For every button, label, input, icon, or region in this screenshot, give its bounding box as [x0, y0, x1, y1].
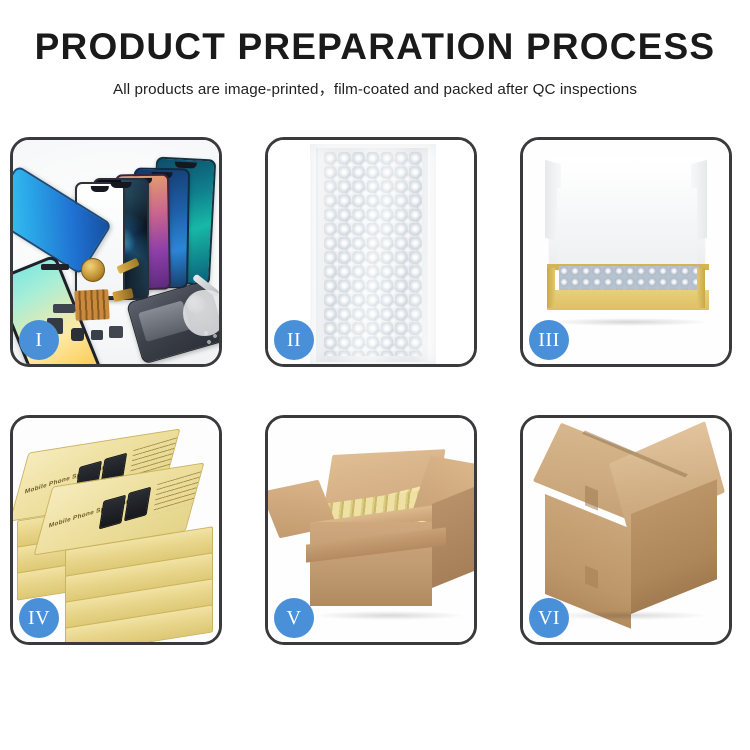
- step-badge-4: IV: [19, 598, 59, 638]
- page-subtitle: All products are image-printed，film-coat…: [0, 77, 750, 99]
- step-badge-1: I: [19, 320, 59, 360]
- part-speaker: [109, 326, 123, 338]
- step-panel-6: VI: [520, 415, 732, 645]
- inner-box-corner-left: [547, 268, 555, 308]
- bubble-wrap-shadow: [310, 144, 436, 364]
- box-spec-lines: [153, 471, 203, 515]
- step-panel-3: III: [520, 137, 732, 367]
- carton-shadow: [314, 611, 464, 620]
- page-title: PRODUCT PREPARATION PROCESS: [0, 28, 750, 67]
- phone-notch: [91, 186, 109, 192]
- step-badge-6: VI: [529, 598, 569, 638]
- inner-box-interior: [557, 188, 697, 268]
- step-badge-3: III: [529, 320, 569, 360]
- technician-hand: [183, 290, 219, 336]
- product-preparation-process-page: PRODUCT PREPARATION PROCESS All products…: [0, 0, 750, 750]
- process-steps-grid: I II: [10, 137, 736, 675]
- box-screen-image: [124, 487, 151, 522]
- part-battery-connector: [41, 264, 69, 270]
- step-badge-2: II: [274, 320, 314, 360]
- inner-box-base-front: [547, 290, 709, 310]
- phone-notch: [111, 182, 132, 188]
- part-chip: [91, 330, 103, 340]
- sealed-carton-shadow: [551, 611, 707, 620]
- part-screw-plate: [74, 289, 110, 321]
- part-vibration-motor: [81, 258, 105, 282]
- step-panel-4: Mobile Phone Spare Parts Mobile Phone Sp…: [10, 415, 222, 645]
- step-badge-5: V: [274, 598, 314, 638]
- header: PRODUCT PREPARATION PROCESS All products…: [0, 28, 750, 99]
- step-panel-5: V: [265, 415, 477, 645]
- inner-box-shadow: [549, 318, 709, 326]
- step-panel-2: II: [265, 137, 477, 367]
- inner-box-corner-right: [697, 268, 705, 308]
- box-screen-image: [99, 495, 126, 530]
- step-panel-1: I: [10, 137, 222, 367]
- part-flex-cable-1: [53, 304, 75, 313]
- part-camera-module: [71, 328, 84, 341]
